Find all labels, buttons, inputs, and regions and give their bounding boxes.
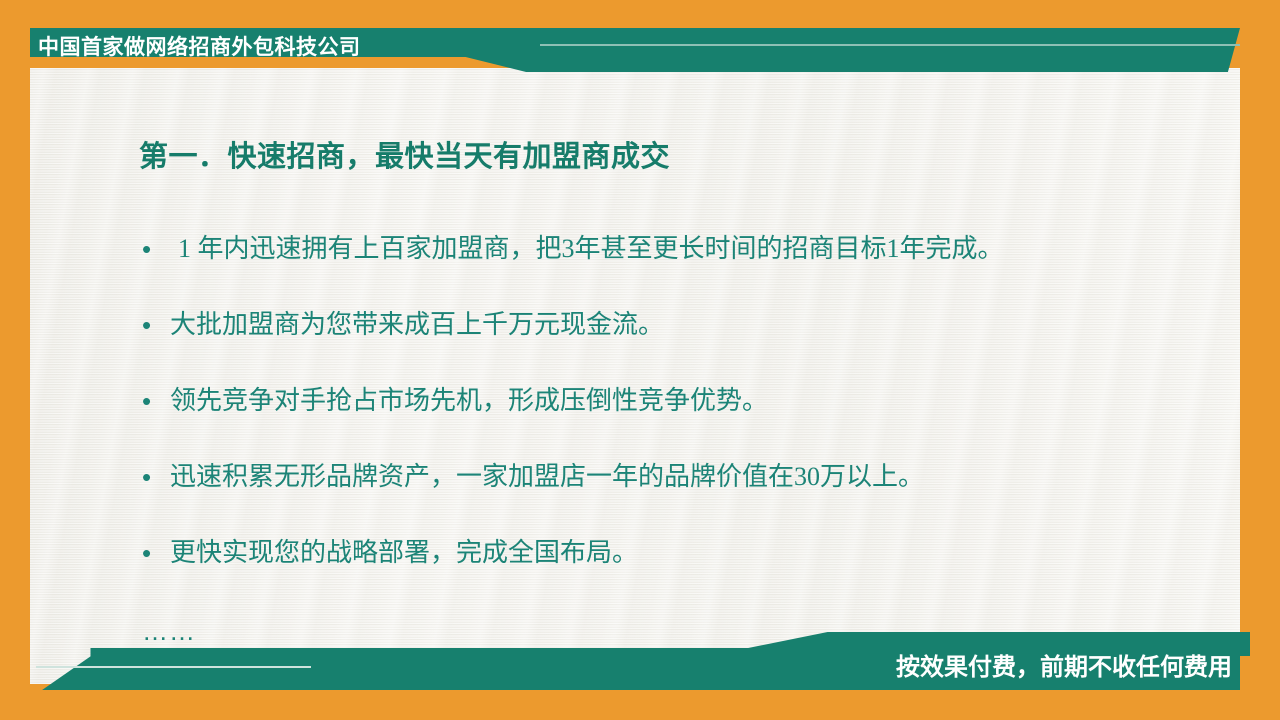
presentation-slide: 中国首家做网络招商外包科技公司 第一．快速招商，最快当天有加盟商成交 • 1 年… [0,0,1280,720]
list-item: • 更快实现您的战略部署，完成全国布局。 [142,536,1212,612]
list-item: • 1 年内迅速拥有上百家加盟商，把3年甚至更长时间的招商目标1年完成。 [142,232,1212,308]
slide-title: 第一．快速招商，最快当天有加盟商成交 [139,133,670,175]
list-item: • 迅速积累无形品牌资产，一家加盟店一年的品牌价值在30万以上。 [142,460,1212,536]
bullet-dot-icon: • [142,536,170,570]
list-item-text: 1 年内迅速拥有上百家加盟商，把3年甚至更长时间的招商目标1年完成。 [170,232,1004,266]
footer-tagline: 按效果付费，前期不收任何费用 [896,650,1232,686]
bullet-list: • 1 年内迅速拥有上百家加盟商，把3年甚至更长时间的招商目标1年完成。 • 大… [142,232,1212,612]
list-item-text: 大批加盟商为您带来成百上千万元现金流。 [170,308,664,342]
list-item: • 大批加盟商为您带来成百上千万元现金流。 [142,308,1212,384]
list-item-text: 领先竞争对手抢占市场先机，形成压倒性竞争优势。 [170,384,768,418]
list-item: • 领先竞争对手抢占市场先机，形成压倒性竞争优势。 [142,384,1212,460]
bullet-dot-icon: • [142,460,170,494]
bullet-dot-icon: • [142,232,170,266]
list-item-text: 更快实现您的战略部署，完成全国布局。 [170,536,638,570]
list-item-text: 迅速积累无形品牌资产，一家加盟店一年的品牌价值在30万以上。 [170,460,924,494]
continuation-ellipsis: …… [142,618,196,644]
footer-hairline-rule [36,666,311,668]
bullet-dot-icon: • [142,384,170,418]
header-hairline-rule [540,44,1240,46]
header-title: 中国首家做网络招商外包科技公司 [38,30,361,66]
bullet-dot-icon: • [142,308,170,342]
